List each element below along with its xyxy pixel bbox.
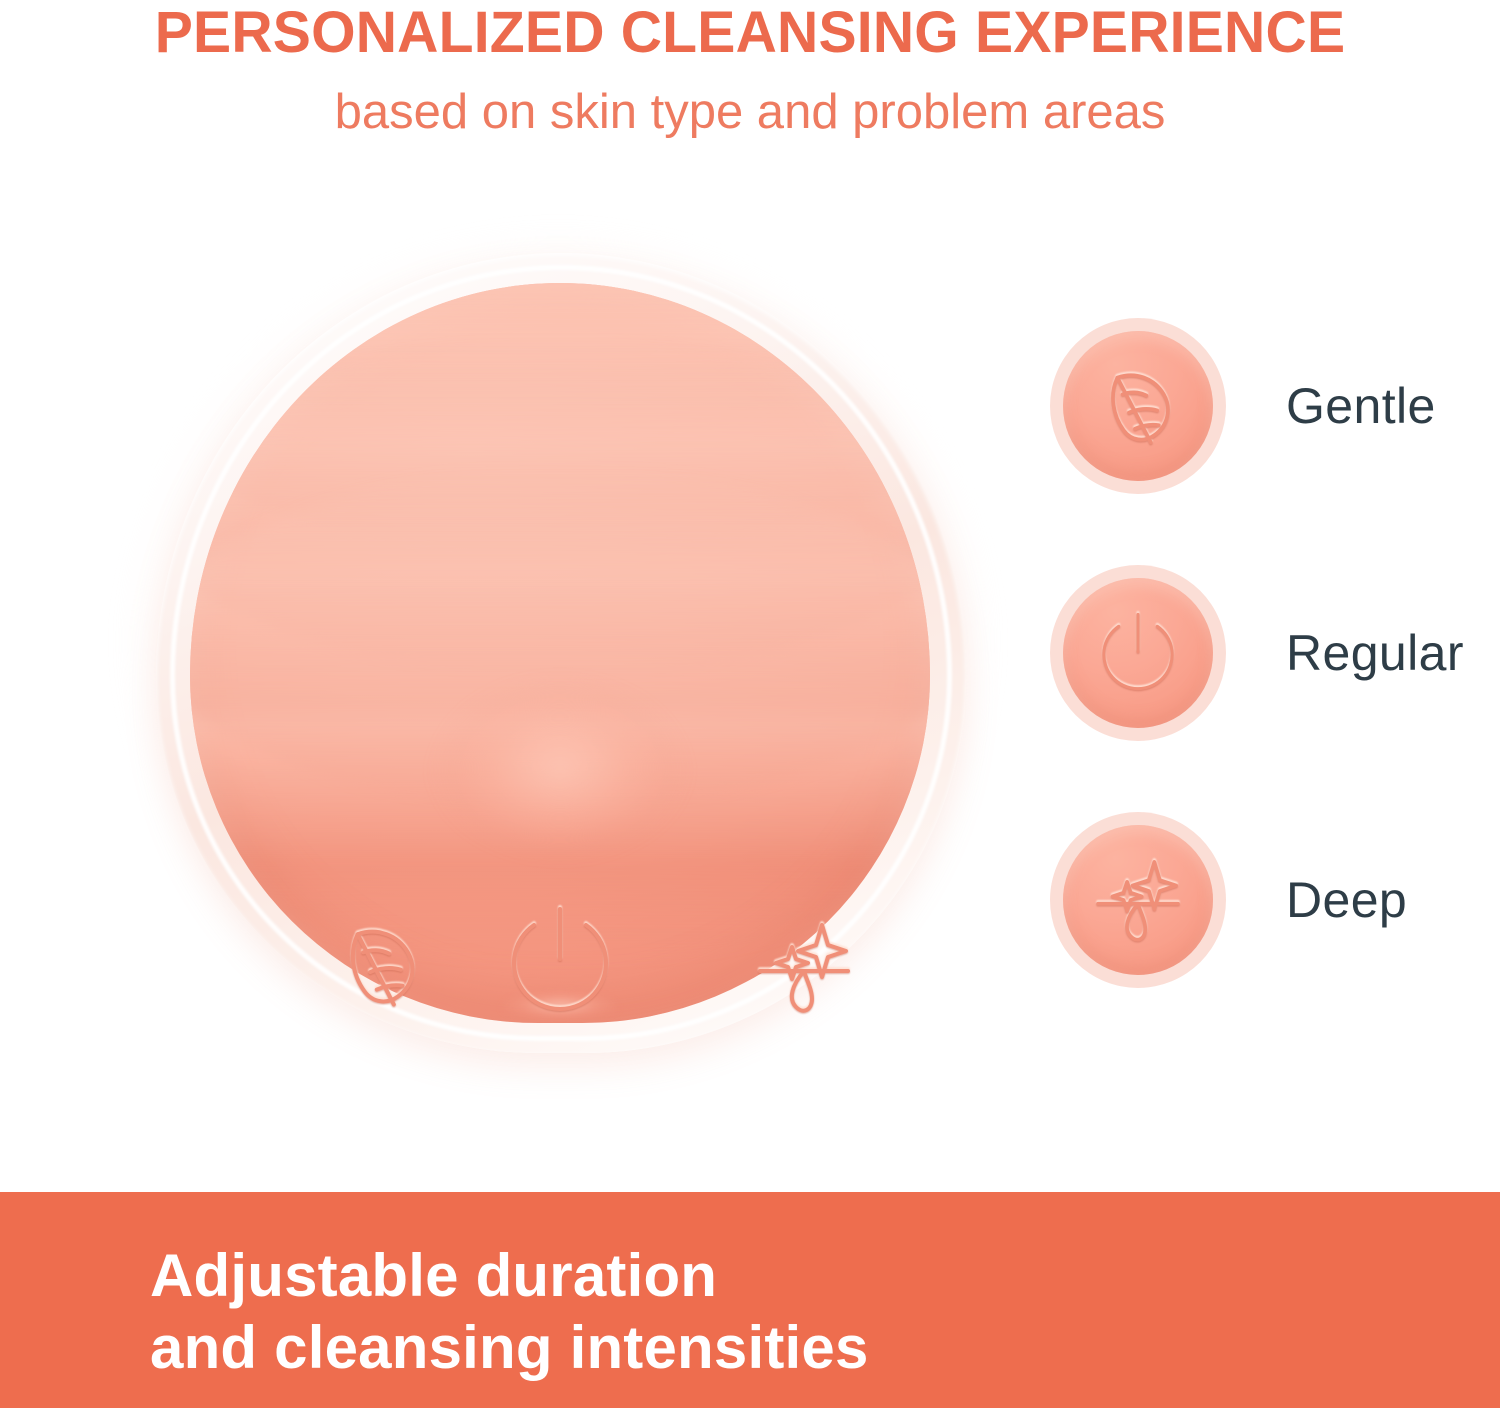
charging-bump <box>497 991 623 1023</box>
page-title: PERSONALIZED CLEANSING EXPERIENCE <box>11 2 1489 64</box>
legend-item-regular: Regular <box>1050 565 1480 741</box>
banner-line-1: Adjustable duration <box>150 1240 869 1312</box>
legend-item-gentle: Gentle <box>1050 318 1480 494</box>
legend-chip-deep <box>1050 812 1226 988</box>
product-body <box>190 283 930 1023</box>
page-subtitle: based on skin type and problem areas <box>0 83 1500 141</box>
feather-icon <box>1090 358 1186 454</box>
banner-line-2: and cleansing intensities <box>150 1312 869 1384</box>
banner-text: Adjustable duration and cleansing intens… <box>150 1240 869 1384</box>
power-button-pad <box>429 675 691 897</box>
legend-label-gentle: Gentle <box>1286 377 1436 435</box>
header-block: PERSONALIZED CLEANSING EXPERIENCE based … <box>0 0 1500 141</box>
legend-item-deep: Deep <box>1050 812 1480 988</box>
legend-chip-regular <box>1050 565 1226 741</box>
legend-label-deep: Deep <box>1286 871 1407 929</box>
intensity-legend: Gentle Regular <box>1050 318 1480 988</box>
pore-sparkle-icon <box>1089 849 1187 951</box>
legend-chip-gentle <box>1050 318 1226 494</box>
infographic-page: PERSONALIZED CLEANSING EXPERIENCE based … <box>0 0 1500 1414</box>
legend-label-regular: Regular <box>1286 624 1464 682</box>
bottom-banner: Adjustable duration and cleansing intens… <box>0 1192 1500 1408</box>
power-icon <box>1086 601 1190 705</box>
product-image <box>118 225 998 1085</box>
